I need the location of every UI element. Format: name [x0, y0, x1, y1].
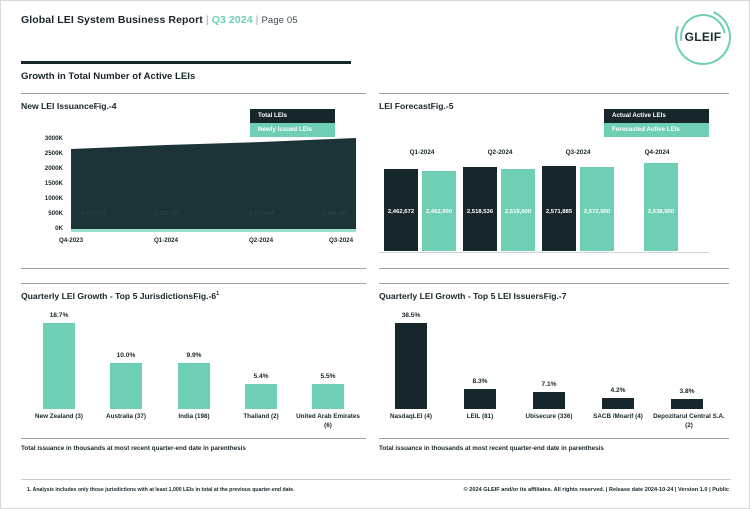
panel-title-fig5: LEI Forecast|Fig.-5	[379, 101, 454, 111]
legend-item-forecasted-active-leis: Forecasted Active LEIs	[604, 123, 709, 137]
bar-ubisecure: 7.1%	[533, 392, 565, 409]
panel-title-fig7: Quarterly LEI Growth - Top 5 LEI Issuers…	[379, 291, 567, 301]
panel-new-lei-issuance: New LEI Issuance|Fig.-4 Total LEIs Newly…	[21, 93, 366, 273]
bar-value-forecast-q3: 2,572,000	[580, 209, 614, 215]
legend-item-actual-active-leis: Actual Active LEIs	[604, 109, 709, 123]
bar-value-new-zealand: 18.7%	[43, 312, 75, 319]
bar-value-thailand: 5.4%	[245, 373, 277, 380]
panel-title-text: Quarterly LEI Growth - Top 5 LEI Issuers	[379, 291, 544, 301]
ytick-2500k: 2500K	[21, 150, 63, 157]
bar-value-united-arab-emirates: 5.5%	[312, 373, 344, 380]
bar-united-arab-emirates: 5.5%	[312, 384, 344, 409]
ytick-1500k: 1500K	[21, 180, 63, 187]
legend-fig5: Actual Active LEIs Forecasted Active LEI…	[604, 109, 709, 137]
bar-value-india: 9.9%	[178, 352, 210, 359]
cat-label-depozitarul-central: Depozitarul Central S.A. (2)	[653, 413, 725, 430]
bar-depozitarul-central: 3.8%	[671, 399, 703, 409]
group-label-q3-2024: Q3-2024	[543, 149, 613, 156]
area-inner-label-4: 2,638,000	[305, 211, 365, 217]
report-title-text: Global LEI System Business Report	[21, 14, 203, 26]
chart-baseline-fig5	[379, 252, 709, 253]
cat-label-united-arab-emirates: United Arab Emirates (6)	[295, 413, 361, 430]
panel-lei-forecast: LEI Forecast|Fig.-5 Actual Active LEIs F…	[379, 93, 729, 273]
section-divider	[21, 61, 351, 64]
area-chart-plot-fig4: 2,462,672 2,518,536 2,571,885 2,638,000	[71, 133, 356, 233]
panel-top-issuers: Quarterly LEI Growth - Top 5 LEI Issuers…	[379, 283, 729, 463]
footnote-copyright: © 2024 GLEIF and/or its affiliates. All …	[464, 487, 729, 493]
ytick-2000k: 2000K	[21, 165, 63, 172]
page-title: Global LEI System Business Report|Q3 202…	[21, 14, 298, 26]
bar-group-fig7: 38.5% 8.3% 7.1% 4.2% 3.8%	[379, 317, 729, 409]
cat-label-thailand: Thailand (2)	[228, 413, 294, 422]
xtick-q1-2024: Q1-2024	[138, 237, 194, 244]
page-number-label: Page 05	[262, 15, 298, 26]
area-chart-svg	[71, 133, 356, 233]
page-header: Global LEI System Business Report|Q3 202…	[1, 1, 750, 63]
bar-group-fig6: 18.7% 10.0% 9.9% 5.4% 5.5%	[21, 317, 366, 409]
area-newly-issued-leis	[71, 229, 356, 232]
title-separator-2: |	[256, 14, 259, 26]
bar-value-australia: 10.0%	[110, 352, 142, 359]
bar-actual-q3: 2,571,885	[542, 166, 576, 251]
panel-top-rule	[379, 93, 729, 94]
panel-top-jurisdictions: Quarterly LEI Growth - Top 5 Jurisdictio…	[21, 283, 366, 463]
group-label-q4-2024: Q4-2024	[622, 149, 692, 156]
panel-top-rule	[21, 93, 366, 94]
footer-divider	[21, 479, 731, 480]
bar-forecast-q3: 2,572,000	[580, 167, 614, 251]
bar-group-fig5: 2,462,672 2,462,000 2,518,536 2,519,000 …	[379, 167, 719, 251]
panel-bottom-rule	[21, 268, 366, 269]
ytick-1000k: 1000K	[21, 195, 63, 202]
panel-note-rule	[21, 438, 366, 439]
bar-value-depozitarul-central: 3.8%	[671, 388, 703, 395]
bar-actual-q1: 2,462,672	[384, 169, 418, 251]
bar-forecast-q2: 2,519,000	[501, 169, 535, 251]
section-heading: Growth in Total Number of Active LEIs	[21, 71, 195, 82]
xtick-q4-2023: Q4-2023	[43, 237, 99, 244]
bar-value-sacb-moarif: 4.2%	[602, 387, 634, 394]
cat-label-new-zealand: New Zealand (3)	[26, 413, 92, 422]
bar-value-actual-q2: 2,518,536	[463, 209, 497, 215]
panel-footnote-marker: 1	[216, 291, 219, 297]
panel-title-text: Quarterly LEI Growth - Top 5 Jurisdictio…	[21, 291, 193, 301]
cat-label-australia: Australia (37)	[93, 413, 159, 422]
panel-note-rule	[379, 438, 729, 439]
cat-label-ubisecure: Ubisecure (336)	[517, 413, 581, 422]
group-label-q1-2024: Q1-2024	[387, 149, 457, 156]
bar-sacb-moarif: 4.2%	[602, 398, 634, 409]
bar-actual-q2: 2,518,536	[463, 167, 497, 251]
bar-value-actual-q3: 2,571,885	[542, 209, 576, 215]
footnote-analysis: 1. Analysis includes only those jurisdic…	[27, 487, 295, 493]
ytick-3000k: 3000K	[21, 135, 63, 142]
logo-wordmark: GLEIF	[675, 30, 731, 44]
area-inner-label-3: 2,571,885	[232, 211, 292, 217]
bar-value-nasdaqlei: 38.5%	[395, 312, 427, 319]
bar-forecast-q4: 2,638,000	[644, 163, 678, 251]
panel-title-fig4: New LEI Issuance|Fig.-4	[21, 101, 117, 111]
title-separator-1: |	[206, 14, 209, 26]
bar-value-forecast-q2: 2,519,000	[501, 209, 535, 215]
area-inner-label-2: 2,518,536	[137, 211, 197, 217]
panel-top-rule	[21, 283, 366, 284]
group-label-q2-2024: Q2-2024	[465, 149, 535, 156]
cat-label-india: India (198)	[161, 413, 227, 422]
cat-label-nasdaqlei: NasdaqLEI (4)	[379, 413, 443, 422]
panel-title-text: LEI Forecast	[379, 101, 431, 111]
panel-bottom-rule	[379, 268, 729, 269]
panel-top-rule	[379, 283, 729, 284]
report-quarter: Q3 2024	[212, 14, 253, 26]
area-inner-label-1: 2,462,672	[63, 211, 123, 217]
report-page: Global LEI System Business Report|Q3 202…	[0, 0, 750, 509]
legend-item-total-leis: Total LEIs	[250, 109, 335, 123]
panel-note-fig6: Total issuance in thousands at most rece…	[21, 445, 246, 452]
panel-title-fig6: Quarterly LEI Growth - Top 5 Jurisdictio…	[21, 291, 219, 301]
panel-title-text: New LEI Issuance	[21, 101, 94, 111]
bar-value-forecast-q1: 2,462,000	[422, 209, 456, 215]
panel-note-fig7: Total issuance in thousands at most rece…	[379, 445, 604, 452]
ytick-500k: 500K	[21, 210, 63, 217]
xtick-q3-2024: Q3-2024	[313, 237, 369, 244]
bar-value-actual-q1: 2,462,672	[384, 209, 418, 215]
cat-label-leil: LEIL (81)	[448, 413, 512, 422]
bar-value-forecast-q4: 2,638,000	[644, 209, 678, 215]
bar-forecast-q1: 2,462,000	[422, 171, 456, 251]
cat-label-sacb-moarif: SACB /Moarif (4)	[586, 413, 650, 422]
bar-nasdaqlei: 38.5%	[395, 323, 427, 409]
bar-value-leil: 8.3%	[464, 378, 496, 385]
xtick-q2-2024: Q2-2024	[233, 237, 289, 244]
ytick-0k: 0K	[21, 225, 63, 232]
bar-leil: 8.3%	[464, 389, 496, 409]
bar-value-ubisecure: 7.1%	[533, 381, 565, 388]
bar-australia: 10.0%	[110, 363, 142, 409]
bar-thailand: 5.4%	[245, 384, 277, 409]
bar-new-zealand: 18.7%	[43, 323, 75, 409]
gleif-logo: GLEIF	[675, 9, 731, 65]
bar-india: 9.9%	[178, 363, 210, 409]
